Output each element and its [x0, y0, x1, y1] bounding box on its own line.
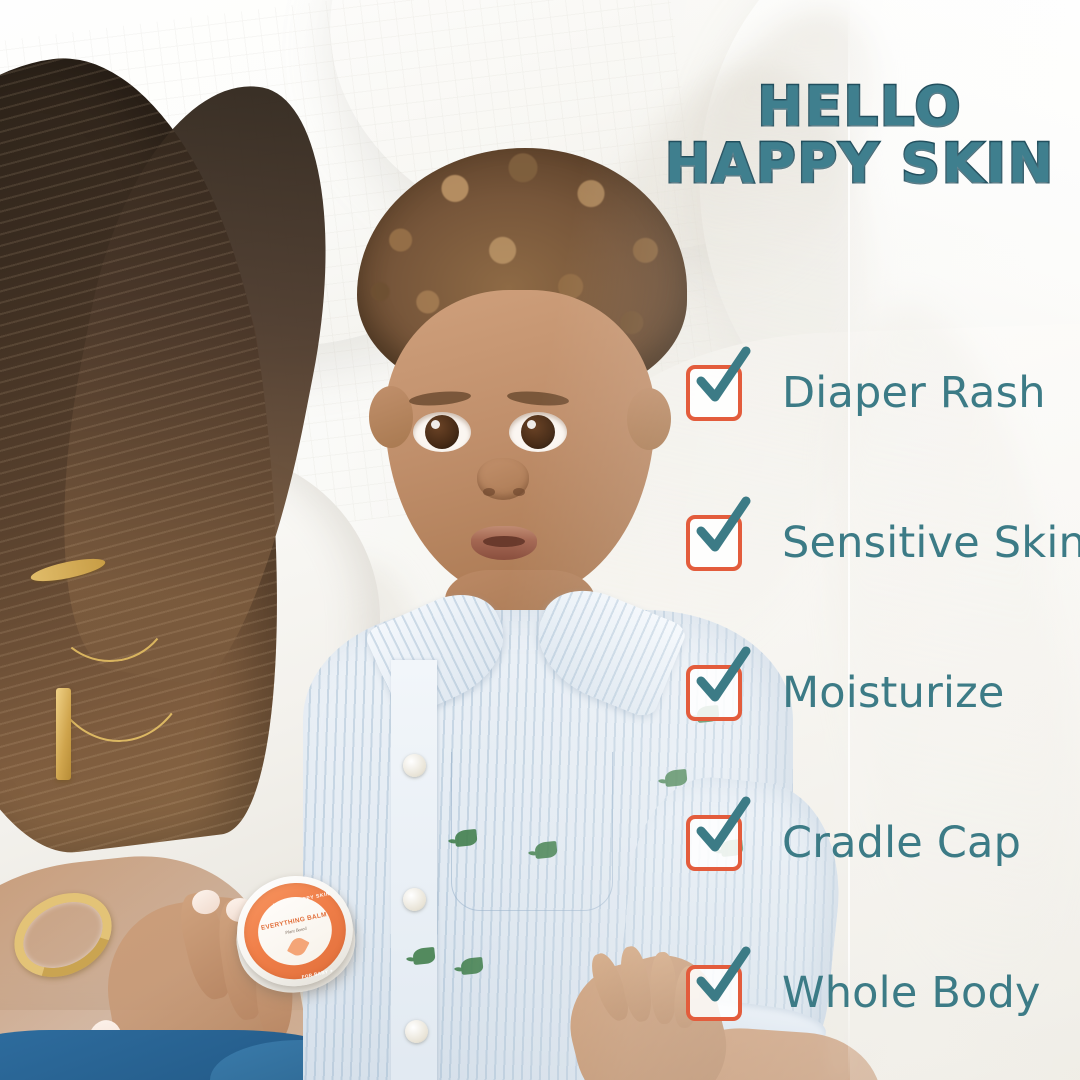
ad-creative-canvas: HELLO HAPPY SKIN FOR BABY + EVERYTHING B… — [0, 0, 1080, 1080]
headline-line-1: HELLO — [640, 78, 1080, 135]
list-item-label: Moisturize — [782, 668, 1005, 718]
list-item-label: Sensitive Skin — [782, 518, 1080, 568]
checkbox-checked-icon[interactable] — [686, 665, 742, 721]
checkbox-checked-icon[interactable] — [686, 965, 742, 1021]
benefits-checklist: Diaper Rash Sensitive Skin Moisturize Cr… — [686, 318, 1080, 1068]
checkbox-checked-icon[interactable] — [686, 515, 742, 571]
list-item-moisturize[interactable]: Moisturize — [686, 618, 1080, 768]
list-item-label: Whole Body — [782, 968, 1041, 1018]
list-item-diaper-rash[interactable]: Diaper Rash — [686, 318, 1080, 468]
list-item-sensitive-skin[interactable]: Sensitive Skin — [686, 468, 1080, 618]
list-item-cradle-cap[interactable]: Cradle Cap — [686, 768, 1080, 918]
list-item-label: Diaper Rash — [782, 368, 1046, 418]
text-overlay: HELLO HAPPY SKIN Diaper Rash Sensitive S… — [0, 0, 1080, 1080]
page-title: HELLO HAPPY SKIN — [640, 78, 1080, 192]
checkbox-checked-icon[interactable] — [686, 365, 742, 421]
checkbox-checked-icon[interactable] — [686, 815, 742, 871]
headline-line-2: HAPPY SKIN — [640, 135, 1080, 192]
list-item-whole-body[interactable]: Whole Body — [686, 918, 1080, 1068]
list-item-label: Cradle Cap — [782, 818, 1021, 868]
